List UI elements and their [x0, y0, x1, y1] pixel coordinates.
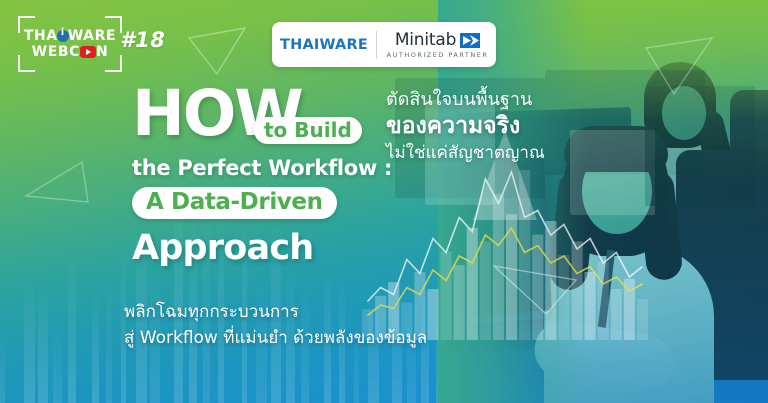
headline-to-build: to Build: [254, 117, 362, 144]
headline-line4: A Data-Driven: [132, 187, 337, 219]
webcon-tha: THA: [24, 28, 58, 44]
partner-badge: THAIWARE Minitab AUTHORIZED PARTNER: [272, 22, 496, 67]
triangle-outline-icon: [490, 258, 580, 318]
headline-line5: Approach: [132, 228, 432, 268]
minitab-arrow-icon: [460, 33, 480, 48]
minitab-partner-subtitle: AUTHORIZED PARTNER: [379, 51, 496, 59]
thaiware-webcon-logo: THAWARE WEBCN: [18, 16, 122, 72]
webinar-banner: THAWARE WEBCN #18 THAIWARE Minitab AUTHO…: [0, 0, 768, 403]
thai-tagline-right: ตัดสินใจบนพื้นฐาน ของความจริง ไม่ใช่แค่ส…: [386, 88, 636, 165]
thai-right-line3: ไม่ใช่แค่สัญชาตญาณ: [386, 142, 636, 165]
triangle-outline-icon: [640, 32, 718, 98]
webcon-n: N: [96, 44, 108, 60]
globe-i-icon: [57, 30, 69, 42]
webcon-ware: WARE: [68, 28, 116, 44]
thai-bottom-line2: สู่ Workflow ที่แม่นยำ ด้วยพลังของข้อมูล: [124, 326, 427, 352]
triangle-outline-icon: [22, 158, 92, 206]
webcon-webc: WEBC: [32, 44, 80, 60]
youtube-play-icon: [80, 46, 96, 58]
thai-bottom-line1: พลิกโฉมทุกกระบวนการ: [124, 300, 427, 326]
thaiware-logo-text: THAIWARE: [272, 37, 376, 53]
thai-right-line2: ของความจริง: [386, 112, 636, 142]
triangle-outline-icon: [185, 24, 249, 78]
episode-number: #18: [120, 28, 165, 52]
minitab-name: Minitab: [395, 30, 456, 50]
thai-tagline-bottom: พลิกโฉมทุกกระบวนการ สู่ Workflow ที่แม่น…: [124, 300, 427, 351]
thai-right-line1: ตัดสินใจบนพื้นฐาน: [386, 88, 636, 112]
